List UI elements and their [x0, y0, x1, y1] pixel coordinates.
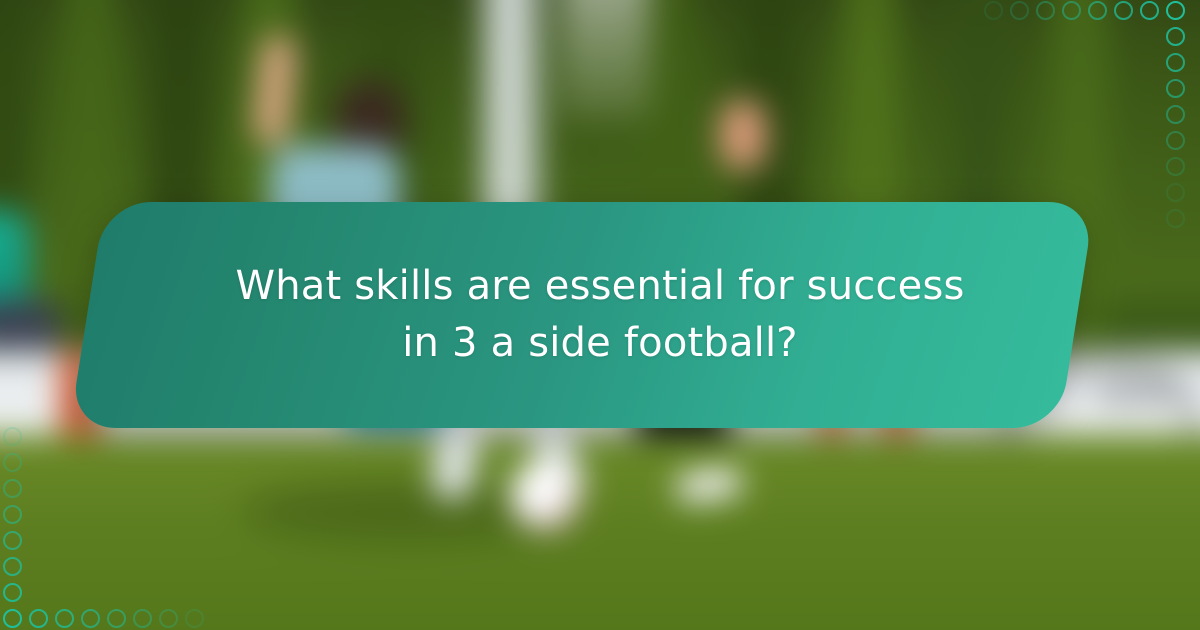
- question-card-inner: What skills are essential for success in…: [105, 202, 1095, 428]
- grass-layer: [0, 435, 1200, 630]
- share-card-canvas: What skills are essential for success in…: [0, 0, 1200, 630]
- page-title: What skills are essential for success in…: [220, 258, 980, 372]
- goal-post: [480, 0, 542, 230]
- player-arm: [720, 100, 766, 170]
- question-card: What skills are essential for success in…: [69, 202, 1095, 428]
- football-ball: [510, 460, 580, 530]
- goal-crossbar: [560, 0, 650, 120]
- sponsor-logo-bar: [1095, 380, 1175, 406]
